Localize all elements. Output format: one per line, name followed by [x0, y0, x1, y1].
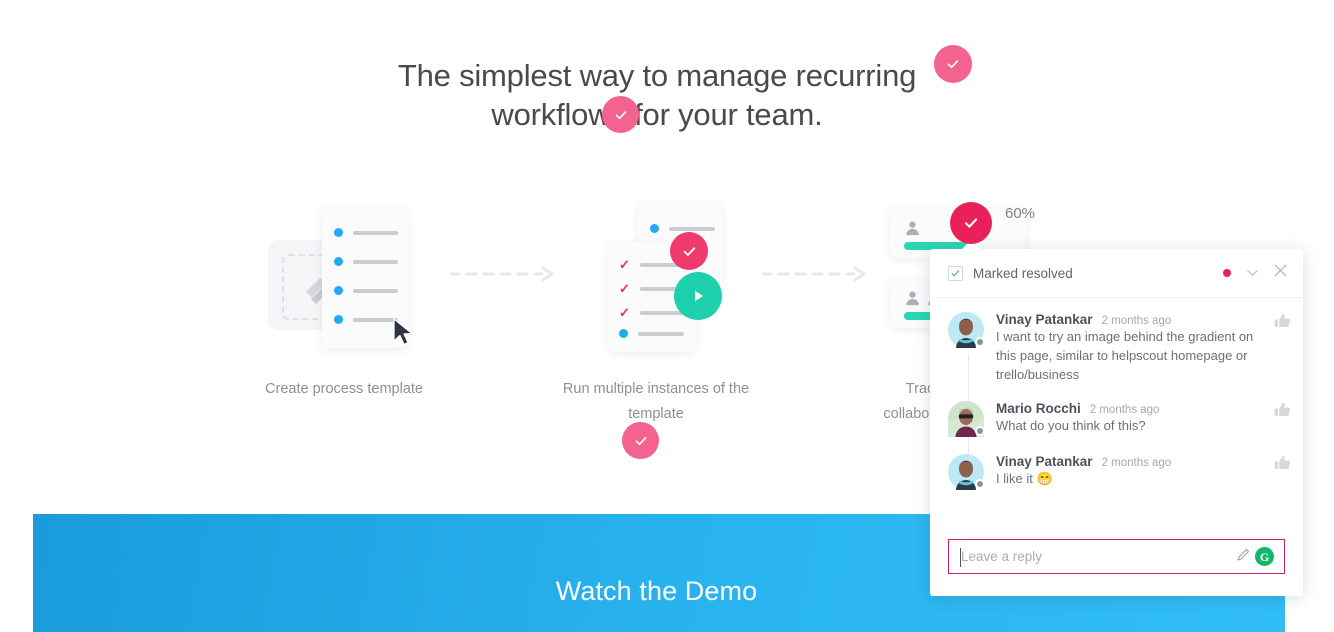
comment-body: Vinay Patankar 2 months ago I want to tr… [996, 312, 1287, 384]
panel-header-controls [1223, 264, 1287, 282]
comment-text: I want to try an image behind the gradie… [996, 329, 1253, 382]
comment-panel-header: Marked resolved [930, 249, 1303, 298]
text-caret [960, 548, 961, 567]
comment-item: Vinay Patankar 2 months ago I want to tr… [948, 312, 1287, 384]
check-icon: ✓ [619, 282, 630, 295]
check-icon: ✓ [619, 306, 630, 319]
comment-meta: Mario Rocchi 2 months ago [996, 401, 1261, 416]
thumbs-up-icon[interactable] [1274, 401, 1291, 423]
user-avatar-icon [904, 289, 921, 306]
comment-author: Mario Rocchi [996, 401, 1081, 416]
comment-timestamp: 2 months ago [1102, 315, 1172, 327]
marked-resolved-label: Marked resolved [973, 266, 1073, 281]
presence-indicator [975, 426, 985, 436]
comment-body: Vinay Patankar 2 months ago I like it 😁 [996, 454, 1287, 490]
avatar[interactable] [948, 454, 984, 490]
comment-sticker-icon[interactable] [602, 96, 639, 133]
flow-arrow-icon [762, 266, 870, 282]
grammarly-icon[interactable]: G [1255, 547, 1274, 566]
list-line [353, 289, 398, 293]
comment-timestamp: 2 months ago [1090, 404, 1160, 416]
comment-text: What do you think of this? [996, 418, 1146, 433]
headline-line-1: The simplest way to manage recurring [398, 58, 916, 93]
status-dot-icon[interactable] [1223, 269, 1231, 277]
step-2-caption: Run multiple instances of the template [561, 377, 751, 427]
reply-placeholder: Leave a reply [961, 549, 1042, 564]
presence-indicator [975, 479, 985, 489]
comment-sticker-icon[interactable] [934, 45, 972, 83]
comment-text: I like it 😁 [996, 471, 1053, 486]
mouse-cursor-icon [392, 318, 416, 348]
user-avatar-icon [904, 219, 921, 236]
avatar[interactable] [948, 401, 984, 437]
chevron-down-icon[interactable] [1247, 264, 1258, 282]
comment-timestamp: 2 months ago [1102, 457, 1172, 469]
comment-body: Mario Rocchi 2 months ago What do you th… [996, 401, 1287, 437]
reply-area: Leave a reply G [948, 539, 1285, 574]
step-create-template: Create process template [194, 190, 494, 402]
list-bullet-icon [334, 257, 343, 266]
thumbs-up-icon[interactable] [1274, 312, 1291, 334]
pencil-icon[interactable] [1236, 547, 1251, 567]
list-bullet-icon [650, 224, 659, 233]
list-bullet-icon [619, 329, 628, 338]
comment-list: Vinay Patankar 2 months ago I want to tr… [930, 298, 1303, 490]
comment-author: Vinay Patankar [996, 312, 1093, 327]
comment-panel: Marked resolved [930, 249, 1303, 596]
progress-percent-label: 60% [1005, 205, 1035, 222]
list-bullet-icon [334, 286, 343, 295]
list-line [353, 231, 398, 235]
list-line [669, 227, 715, 231]
completed-badge-icon [670, 232, 708, 270]
close-icon[interactable] [1274, 264, 1287, 282]
flow-arrow-icon [450, 266, 558, 282]
presence-indicator [975, 337, 985, 347]
list-bullet-icon [334, 228, 343, 237]
comment-item: Mario Rocchi 2 months ago What do you th… [948, 401, 1287, 437]
check-icon: ✓ [619, 258, 630, 271]
active-comment-badge-icon[interactable] [950, 202, 992, 244]
page-title: The simplest way to manage recurring wor… [337, 56, 977, 134]
run-play-button[interactable] [674, 272, 722, 320]
list-line [638, 332, 684, 336]
step-1-caption: Create process template [249, 377, 439, 402]
list-line [353, 260, 398, 264]
page-root: The simplest way to manage recurring wor… [0, 0, 1334, 632]
comment-author: Vinay Patankar [996, 454, 1093, 469]
step-1-illustration [194, 190, 494, 365]
comment-meta: Vinay Patankar 2 months ago [996, 454, 1261, 469]
reply-input[interactable]: Leave a reply G [948, 539, 1285, 574]
step-run-instances: ✓ ✓ ✓ Run multiple instances of the temp… [506, 190, 806, 427]
comment-item: Vinay Patankar 2 months ago I like it 😁 [948, 454, 1287, 490]
reply-input-icons: G [1236, 547, 1274, 567]
thumbs-up-icon[interactable] [1274, 454, 1291, 476]
list-bullet-icon [334, 315, 343, 324]
headline-line-2: workflows for your team. [337, 95, 977, 134]
avatar[interactable] [948, 312, 984, 348]
marked-resolved-checkbox[interactable] [948, 266, 963, 281]
comment-meta: Vinay Patankar 2 months ago [996, 312, 1261, 327]
